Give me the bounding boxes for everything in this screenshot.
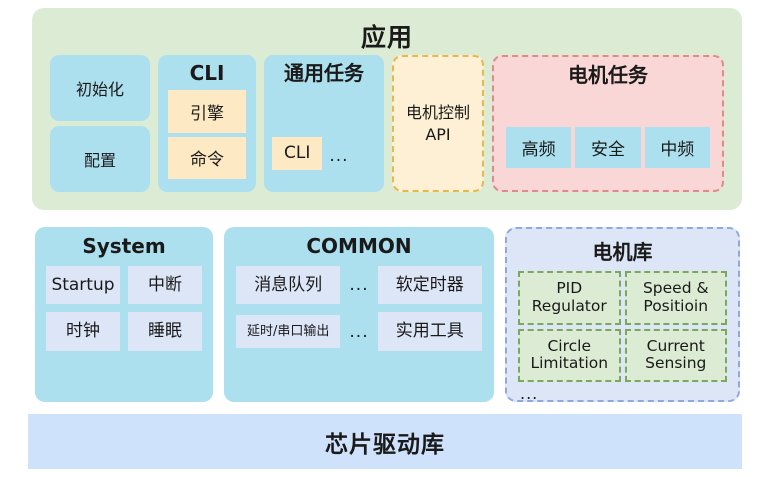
block-common-title: COMMON — [236, 236, 482, 256]
system-sub-sleep[interactable]: 睡眠 — [128, 312, 202, 350]
block-motor-control-api[interactable]: 电机控制 API — [392, 55, 484, 192]
motor-library-row: Circle Limitation Current Sensing — [518, 329, 727, 383]
block-cli[interactable]: CLI 引擎 命令 — [158, 55, 256, 192]
block-general-task-title: 通用任务 — [272, 63, 376, 83]
block-system-title: System — [46, 236, 202, 256]
common-sub-delay-serial-output[interactable]: 延时/串口输出 — [236, 315, 340, 349]
middleware-layer: System Startup 中断 时钟 睡眠 COMMON 消息队列 ... … — [35, 227, 740, 402]
motor-control-api-label: 电机控制 API — [406, 102, 470, 145]
block-motor-library-title: 电机库 — [518, 236, 727, 265]
block-motor-task-title: 电机任务 — [506, 65, 710, 85]
common-row: 延时/串口输出 ... 实用工具 — [236, 312, 482, 350]
common-sub-message-queue[interactable]: 消息队列 — [236, 266, 340, 304]
motor-library-sub-blocks: PID Regulator Speed & Positioin Circle L… — [518, 271, 727, 382]
general-task-sub-cli[interactable]: CLI — [272, 137, 322, 170]
motor-control-api-label-line2: API — [406, 124, 470, 146]
general-task-sub-blocks: CLI ... — [272, 137, 376, 182]
application-layer-blocks: 初始化 配置 CLI 引擎 命令 通用任务 CLI ... — [50, 55, 724, 192]
architecture-diagram: 应用 初始化 配置 CLI 引擎 命令 通用任务 CLI ... — [0, 0, 772, 477]
common-row: 消息队列 ... 软定时器 — [236, 266, 482, 304]
motor-control-api-label-line1: 电机控制 — [406, 102, 470, 124]
motor-task-sub-blocks: 高频 安全 中频 — [506, 127, 710, 178]
motor-library-sub-pid-regulator[interactable]: PID Regulator — [518, 271, 621, 325]
application-layer-title: 应用 — [32, 18, 742, 54]
motor-task-sub-safety[interactable]: 安全 — [575, 127, 640, 168]
block-common[interactable]: COMMON 消息队列 ... 软定时器 延时/串口输出 ... 实用工具 — [224, 227, 494, 402]
chip-driver-library-title: 芯片驱动库 — [325, 425, 445, 459]
application-layer: 应用 初始化 配置 CLI 引擎 命令 通用任务 CLI ... — [32, 8, 742, 210]
block-cli-title: CLI — [168, 63, 246, 83]
motor-library-row: PID Regulator Speed & Positioin — [518, 271, 727, 325]
system-sub-clock[interactable]: 时钟 — [46, 312, 120, 350]
system-row: Startup 中断 — [46, 266, 202, 304]
motor-library-sub-circle-limitation[interactable]: Circle Limitation — [518, 329, 621, 383]
system-sub-blocks: Startup 中断 时钟 睡眠 — [46, 266, 202, 351]
system-sub-interrupt[interactable]: 中断 — [128, 266, 202, 304]
block-configuration[interactable]: 配置 — [50, 126, 150, 192]
system-sub-startup[interactable]: Startup — [46, 266, 120, 304]
block-initialization[interactable]: 初始化 — [50, 55, 150, 121]
motor-task-sub-mid-freq[interactable]: 中频 — [645, 127, 710, 168]
init-config-column: 初始化 配置 — [50, 55, 150, 192]
cli-sub-blocks: 引擎 命令 — [168, 90, 246, 179]
block-motor-task[interactable]: 电机任务 高频 安全 中频 — [492, 55, 724, 192]
motor-task-sub-high-freq[interactable]: 高频 — [506, 127, 571, 168]
common-sub-blocks: 消息队列 ... 软定时器 延时/串口输出 ... 实用工具 — [236, 266, 482, 351]
motor-library-ellipsis: ... — [520, 386, 538, 402]
motor-library-sub-speed-position[interactable]: Speed & Positioin — [625, 271, 728, 325]
cli-sub-command[interactable]: 命令 — [168, 137, 246, 180]
block-system[interactable]: System Startup 中断 时钟 睡眠 — [35, 227, 213, 402]
system-row: 时钟 睡眠 — [46, 312, 202, 350]
general-task-ellipsis: ... — [329, 146, 348, 170]
block-chip-driver-library[interactable]: 芯片驱动库 — [28, 414, 742, 469]
common-sub-soft-timer[interactable]: 软定时器 — [378, 266, 482, 304]
common-row-ellipsis: ... — [348, 322, 369, 342]
block-motor-library[interactable]: 电机库 PID Regulator Speed & Positioin Circ… — [505, 227, 740, 402]
block-general-task[interactable]: 通用任务 CLI ... — [264, 55, 384, 192]
common-sub-utility-tools[interactable]: 实用工具 — [378, 312, 482, 350]
cli-sub-engine[interactable]: 引擎 — [168, 90, 246, 133]
motor-library-sub-current-sensing[interactable]: Current Sensing — [625, 329, 728, 383]
common-row-ellipsis: ... — [348, 275, 369, 295]
